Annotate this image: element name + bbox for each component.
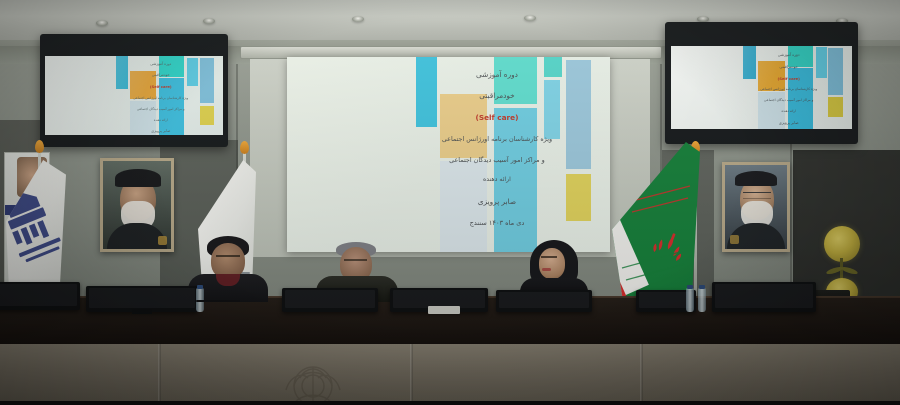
slide-mirror-right: دوره آموزشی خودمراقبتی (Self care) ویژه … [671, 46, 852, 129]
dais-front-panel [0, 344, 900, 405]
monitor-screen [285, 290, 375, 308]
slide-line-accent: (Self care) [403, 114, 590, 122]
slide-line: و مراکز امور آسیب دیدگان اجتماعی [738, 99, 839, 102]
portrait-turban [115, 169, 161, 187]
dais-panel-seam [158, 344, 161, 405]
dais-carving-emblem-icon [248, 356, 378, 405]
slide-line-accent: (Self care) [738, 77, 839, 81]
desk-monitor[interactable] [0, 282, 80, 310]
slide-line: و مراکز امور آسیب دیدگان اجتماعی [111, 108, 211, 111]
slide-line: خودمراقبتی [111, 74, 211, 78]
cable [196, 300, 240, 302]
slide-line: ارائه دهنده [111, 119, 211, 122]
downlight-icon [96, 20, 108, 26]
slide-line: ویژه کارشناسان برنامه اورژانس اجتماعی [403, 136, 590, 143]
dais-panel-seam [640, 344, 643, 405]
dais-panel-seam [410, 344, 413, 405]
downlight-icon [352, 16, 364, 22]
head [539, 248, 565, 279]
monitor-screen [639, 292, 693, 308]
downlight-icon [524, 15, 536, 21]
portrait-seal-icon [730, 235, 739, 244]
eyebrow [216, 255, 240, 257]
tv-left: دوره آموزشی خودمراقبتی (Self care) ویژه … [40, 34, 228, 147]
slide-line: صابر پرویزی [111, 130, 211, 134]
flower-bloom [824, 226, 860, 262]
eyebrow [344, 259, 367, 261]
bottle-cap [197, 285, 203, 289]
eyebrow [541, 256, 557, 258]
portrait-khomeini [100, 158, 174, 252]
lips [542, 268, 551, 271]
monitor-screen [499, 292, 589, 308]
slide-line: ارائه دهنده [403, 177, 590, 184]
tv-left-screen: دوره آموزشی خودمراقبتی (Self care) ویژه … [45, 56, 223, 135]
slide-line: صابر پرویزی [403, 198, 590, 206]
slide-text-block: دوره آموزشی خودمراقبتی (Self care) ویژه … [403, 71, 590, 241]
flag-finial-icon [35, 140, 44, 153]
monitor-stand [132, 309, 152, 314]
slide-line: ویژه کارشناسان برنامه اورژانس اجتماعی [738, 88, 839, 91]
bottom-edge [0, 401, 900, 405]
slide-line: دی ماه ۱۴۰۳ سنندج [403, 220, 590, 227]
water-bottle[interactable] [686, 288, 694, 312]
slide-line: دوره آموزشی [403, 71, 590, 79]
bottle-cap [699, 285, 705, 289]
desk-monitor[interactable] [712, 282, 816, 312]
projection-screen: دوره آموزشی خودمراقبتی (Self care) ویژه … [287, 57, 610, 252]
slide-text-block-right: دوره آموزشی خودمراقبتی (Self care) ویژه … [738, 53, 839, 129]
slide-line: و مراکز امور آسیب دیدگان اجتماعی [403, 157, 590, 164]
desk-monitor[interactable] [282, 288, 378, 312]
portrait-glasses-icon [743, 192, 771, 199]
downlight-icon [203, 18, 215, 24]
monitor-screen [89, 288, 195, 308]
portrait-nameplate [742, 249, 770, 252]
slide-mirror-left: دوره آموزشی خودمراقبتی (Self care) ویژه … [45, 56, 223, 135]
slide-line: ویژه کارشناسان برنامه اورژانس اجتماعی [111, 97, 211, 100]
slide-line: دوره آموزشی [111, 63, 211, 67]
slide-text-block-left: دوره آموزشی خودمراقبتی (Self care) ویژه … [111, 63, 211, 135]
water-bottle[interactable] [698, 288, 706, 312]
monitor-screen [0, 284, 77, 306]
portrait-turban [735, 171, 777, 186]
slide-line: صابر پرویزی [738, 121, 839, 125]
flag-finial-icon [240, 141, 249, 154]
slide-line: ارائه دهنده [738, 110, 839, 113]
slide-line: دوره آموزشی [738, 53, 839, 57]
conference-room-photo: دوره آموزشی خودمراقبتی (Self care) ویژه … [0, 0, 900, 405]
monitor-screen [715, 284, 813, 308]
portrait-seal-icon [158, 236, 167, 245]
tv-right: دوره آموزشی خودمراقبتی (Self care) ویژه … [665, 22, 858, 144]
portrait-khamenei [722, 162, 790, 252]
slide-line: خودمراقبتی [403, 92, 590, 100]
paper-sheet[interactable] [428, 306, 460, 314]
bottle-cap [687, 285, 693, 289]
slide-line: خودمراقبتی [738, 65, 839, 69]
tv-right-screen: دوره آموزشی خودمراقبتی (Self care) ویژه … [671, 46, 852, 129]
slide-main: دوره آموزشی خودمراقبتی (Self care) ویژه … [287, 57, 610, 252]
slide-line-accent: (Self care) [111, 86, 211, 90]
desk-monitor[interactable] [496, 290, 592, 312]
